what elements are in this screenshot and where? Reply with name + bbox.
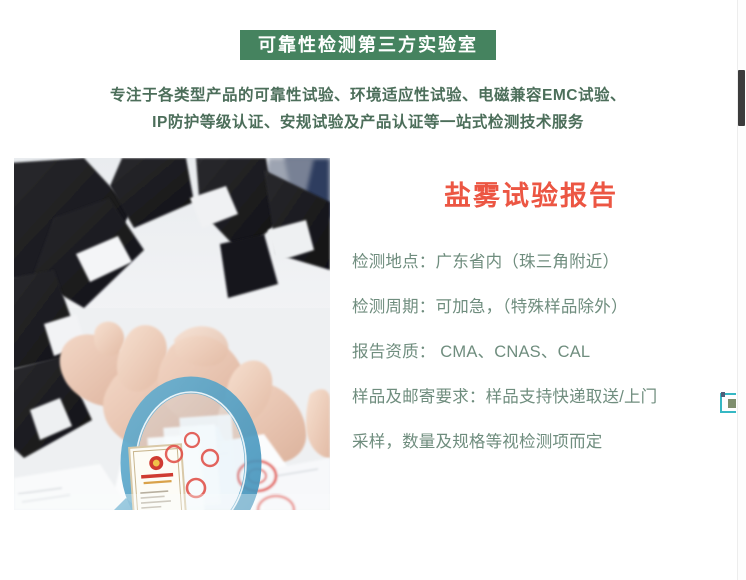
subtitle-line-1: 专注于各类型产品的可靠性试验、环境适应性试验、电磁兼容EMC试验、 xyxy=(0,82,736,109)
report-title: 盐雾试验报告 xyxy=(352,176,744,216)
report-info-panel: 盐雾试验报告 检测地点：广东省内（珠三角附近） 检测周期：可加急，（特殊样品除外… xyxy=(352,158,744,465)
team-photo xyxy=(14,158,330,510)
detail-line-location: 检测地点：广东省内（珠三角附近） xyxy=(352,240,744,285)
detail-line-sample-shipping: 样品及邮寄要求：样品支持快递取送/上门 xyxy=(352,375,744,420)
page-scrollbar-track[interactable] xyxy=(737,0,746,580)
header-banner: 可靠性检测第三方实验室 xyxy=(240,30,496,60)
report-detail-list: 检测地点：广东省内（珠三角附近） 检测周期：可加急，（特殊样品除外） 报告资质：… xyxy=(352,240,744,465)
subtitle-block: 专注于各类型产品的可靠性试验、环境适应性试验、电磁兼容EMC试验、 IP防护等级… xyxy=(0,82,736,136)
side-widget-tick-icon xyxy=(721,392,725,397)
main-content: 盐雾试验报告 检测地点：广东省内（珠三角附近） 检测周期：可加急，（特殊样品除外… xyxy=(0,158,736,513)
header-banner-wrapper: 可靠性检测第三方实验室 xyxy=(0,30,736,60)
detail-line-turnaround: 检测周期：可加急，（特殊样品除外） xyxy=(352,285,744,330)
team-photo-graphic xyxy=(14,158,330,510)
subtitle-line-2: IP防护等级认证、安规试验及产品认证等一站式检测技术服务 xyxy=(0,109,736,136)
detail-line-sampling-quantity: 采样，数量及规格等视检测项而定 xyxy=(352,420,744,465)
page-root: 可靠性检测第三方实验室 专注于各类型产品的可靠性试验、环境适应性试验、电磁兼容E… xyxy=(0,0,746,580)
page-scrollbar-thumb[interactable] xyxy=(738,70,745,126)
side-widget-accent-icon xyxy=(728,399,736,408)
floating-side-widget[interactable] xyxy=(720,390,736,416)
detail-line-qualifications: 报告资质： CMA、CNAS、CAL xyxy=(352,330,744,375)
